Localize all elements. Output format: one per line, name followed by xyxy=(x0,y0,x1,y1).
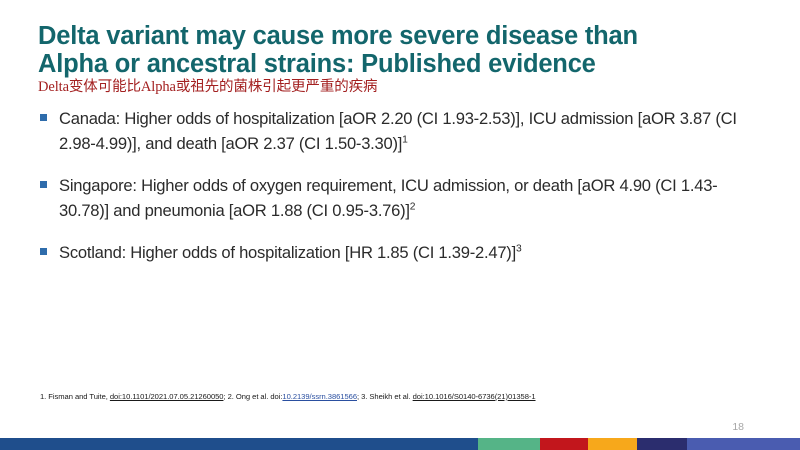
list-item-body: Canada: Higher odds of hospitalization [… xyxy=(59,109,737,153)
bar-segment-red xyxy=(540,438,588,450)
citation-superscript: 1 xyxy=(402,134,407,145)
bullet-list: Canada: Higher odds of hospitalization [… xyxy=(40,106,762,282)
list-item: Canada: Higher odds of hospitalization [… xyxy=(40,106,762,156)
slide-canvas: Delta variant may cause more severe dise… xyxy=(0,0,800,450)
citation-superscript: 2 xyxy=(410,201,415,212)
bar-segment-navy xyxy=(637,438,687,450)
footnote-ref3-doi-link[interactable]: doi:10.1016/S0140-6736(21)01358-1 xyxy=(413,392,536,401)
square-bullet-icon xyxy=(40,114,47,121)
footnote-ref2-doi-link[interactable]: 10.2139/ssrn.3861566 xyxy=(282,392,357,401)
list-item-body: Scotland: Higher odds of hospitalization… xyxy=(59,243,516,262)
bottom-color-bar xyxy=(0,438,800,450)
page-subtitle-chinese: Delta变体可能比Alpha或祖先的菌株引起更严重的疾病 xyxy=(38,79,738,96)
bar-segment-green xyxy=(478,438,540,450)
citation-superscript: 3 xyxy=(516,243,521,254)
footnote-separator-1: ; 2. Ong et al. doi: xyxy=(223,392,282,401)
square-bullet-icon xyxy=(40,248,47,255)
list-item-body: Singapore: Higher odds of oxygen require… xyxy=(59,176,717,220)
list-item: Scotland: Higher odds of hospitalization… xyxy=(40,240,762,265)
footnote-ref1-label: 1. Fisman and Tuite, xyxy=(40,392,110,401)
list-item-text: Canada: Higher odds of hospitalization [… xyxy=(59,106,762,156)
bar-segment-orange xyxy=(588,438,637,450)
list-item: Singapore: Higher odds of oxygen require… xyxy=(40,173,762,223)
bar-segment-periwinkle xyxy=(687,438,800,450)
footnote-separator-2: ; 3. Sheikh et al. xyxy=(357,392,413,401)
square-bullet-icon xyxy=(40,181,47,188)
bar-segment-blue xyxy=(0,438,478,450)
list-item-text: Singapore: Higher odds of oxygen require… xyxy=(59,173,762,223)
page-title: Delta variant may cause more severe dise… xyxy=(38,22,738,78)
page-number: 18 xyxy=(732,421,744,433)
footnote-ref1-doi-link[interactable]: doi:10.1101/2021.07.05.21260050 xyxy=(110,392,224,401)
list-item-text: Scotland: Higher odds of hospitalization… xyxy=(59,240,762,265)
footnote-references: 1. Fisman and Tuite, doi:10.1101/2021.07… xyxy=(40,391,680,403)
title-block: Delta variant may cause more severe dise… xyxy=(38,22,738,96)
